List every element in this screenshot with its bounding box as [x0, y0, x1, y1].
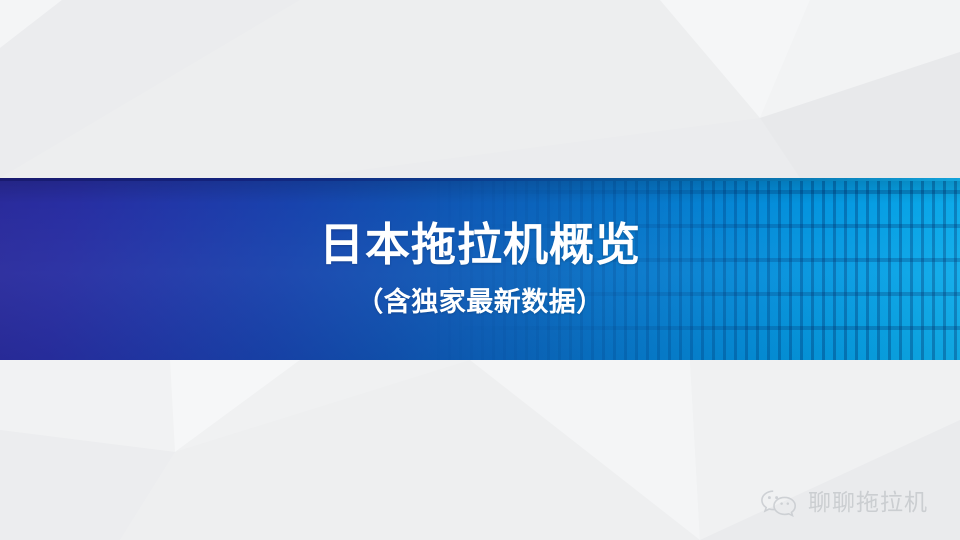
wechat-icon: [759, 488, 799, 518]
watermark-label: 聊聊拖拉机: [808, 492, 928, 515]
page-subtitle: （含独家最新数据）: [356, 289, 604, 316]
watermark: 聊聊拖拉机: [759, 488, 928, 518]
banner-text-block: 日本拖拉机概览 （含独家最新数据）: [0, 178, 960, 360]
title-banner: 日本拖拉机概览 （含独家最新数据）: [0, 178, 960, 360]
slide-canvas: 日本拖拉机概览 （含独家最新数据） 聊聊拖拉机: [0, 0, 960, 540]
page-title: 日本拖拉机概览: [319, 222, 641, 267]
